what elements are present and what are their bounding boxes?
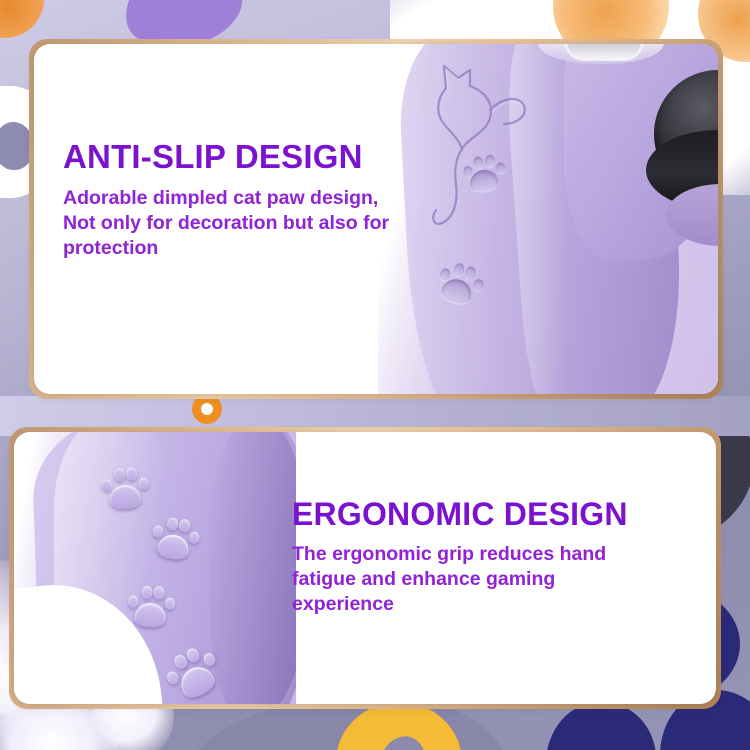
ergonomic-body: The ergonomic grip reduces hand fatigue … — [292, 542, 622, 617]
image-grip-closeup — [14, 432, 296, 704]
paw-print-icon — [147, 513, 203, 566]
ergonomic-title: ERGONOMIC DESIGN — [292, 498, 628, 530]
card-anti-slip[interactable]: ANTI-SLIP DESIGN Adorable dimpled cat pa… — [34, 44, 718, 394]
orange-ring-center-hole — [201, 403, 213, 415]
card-ergonomic[interactable]: ERGONOMIC DESIGN The ergonomic grip redu… — [14, 432, 716, 704]
anti-slip-body: Adorable dimpled cat paw design, Not onl… — [63, 186, 413, 261]
feature-panel-stage: ANTI-SLIP DESIGN Adorable dimpled cat pa… — [0, 0, 750, 750]
anti-slip-title: ANTI-SLIP DESIGN — [63, 140, 413, 173]
card-ergonomic-text: ERGONOMIC DESIGN The ergonomic grip redu… — [292, 498, 628, 617]
card-anti-slip-text: ANTI-SLIP DESIGN Adorable dimpled cat pa… — [63, 140, 413, 261]
grip-shadow — [210, 432, 296, 704]
image-controller-grip — [378, 44, 718, 394]
controller-button-slot — [564, 44, 644, 61]
paw-print-icon — [459, 151, 508, 197]
paw-print-icon — [98, 464, 151, 513]
